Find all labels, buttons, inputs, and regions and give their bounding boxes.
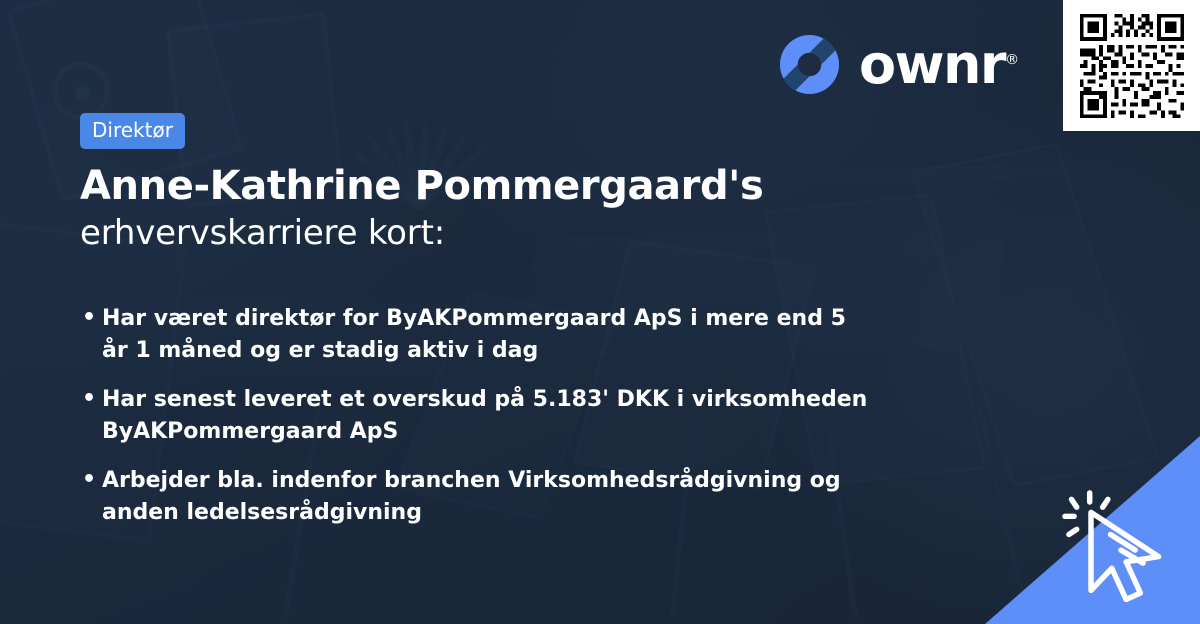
click-cursor-icon [1052,476,1182,606]
page-title: Anne-Kathrine Pommergaard's [80,163,920,210]
page-subtitle: erhvervskarriere kort: [80,212,920,255]
card-content: Direktør Anne-Kathrine Pommergaard's erh… [80,0,920,546]
list-item: Arbejder bla. indenfor branchen Virksomh… [80,465,870,530]
list-item: Har været direktør for ByAKPommergaard A… [80,303,870,368]
career-fact-list: Har været direktør for ByAKPommergaard A… [80,303,920,530]
business-card-banner: ownr® [0,0,1200,624]
role-badge: Direktør [80,113,185,149]
registered-trademark-icon: ® [1005,52,1019,68]
qr-code-panel[interactable] [1063,0,1200,131]
qr-code-icon [1076,10,1188,122]
list-item: Har senest leveret et overskud på 5.183'… [80,384,870,449]
